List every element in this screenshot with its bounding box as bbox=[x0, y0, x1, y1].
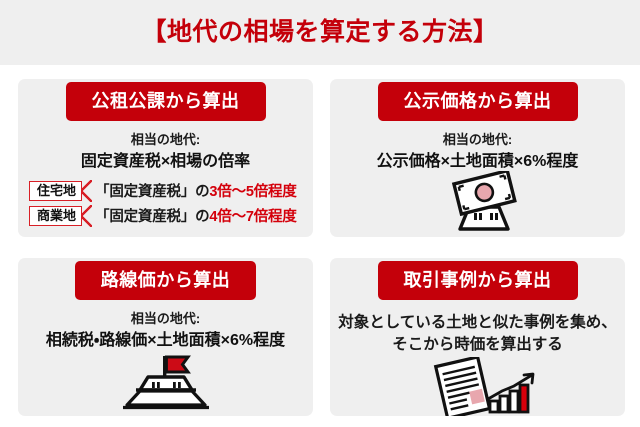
document-bar-chart-icon bbox=[419, 357, 537, 416]
card-body: 相当の地代: 固定資産税×相場の倍率 住宅地 「固定資産税」の3倍～5倍程度 商… bbox=[18, 121, 313, 226]
banknote-on-stand-icon bbox=[430, 171, 526, 233]
tag-row-prefix: 「固定資産税」の bbox=[95, 184, 209, 200]
tag-row-highlight: 4倍～7倍程度 bbox=[209, 209, 296, 225]
card-description-line1: 対象としている土地と似た事例を集め、 bbox=[338, 312, 617, 334]
card-lead: 相当の地代: bbox=[131, 311, 200, 327]
method-card-rosenka: 路線価から算出 相当の地代: 相続税・路線価×土地面積×6%程度 bbox=[18, 258, 313, 416]
card-heading: 路線価から算出 bbox=[75, 261, 257, 300]
card-lead: 相当の地代: bbox=[443, 132, 512, 148]
card-icon-slot bbox=[330, 171, 625, 233]
tag-row-text: 「固定資産税」の3倍～5倍程度 bbox=[95, 180, 297, 201]
card-formula: 公示価格×土地面積×6%程度 bbox=[377, 152, 579, 171]
method-card-grid: 公租公課から算出 相当の地代: 固定資産税×相場の倍率 住宅地 「固定資産税」の… bbox=[18, 79, 625, 416]
card-formula: 相続税・路線価×土地面積×6%程度 bbox=[46, 331, 285, 350]
card-heading: 公示価格から算出 bbox=[378, 82, 578, 121]
tag-row-highlight: 3倍～5倍程度 bbox=[209, 184, 296, 200]
card-heading: 公租公課から算出 bbox=[66, 82, 266, 121]
card-body: 対象としている土地と似た事例を集め、 そこから時価を算出する bbox=[330, 300, 625, 357]
card-lead: 相当の地代: bbox=[131, 132, 200, 148]
page-title: 【地代の相場を算定する方法】 bbox=[141, 20, 498, 45]
tag-row: 住宅地 「固定資産税」の3倍～5倍程度 bbox=[29, 180, 313, 201]
land-plot-flag-icon bbox=[114, 350, 218, 412]
tag-row-prefix: 「固定資産税」の bbox=[95, 209, 209, 225]
tag-row-list: 住宅地 「固定資産税」の3倍～5倍程度 商業地 「固定資産税」の4倍～7倍程度 bbox=[18, 180, 313, 226]
card-heading: 取引事例から算出 bbox=[378, 261, 578, 300]
header-band: 【地代の相場を算定する方法】 bbox=[0, 0, 640, 65]
method-card-kosokouka: 公租公課から算出 相当の地代: 固定資産税×相場の倍率 住宅地 「固定資産税」の… bbox=[18, 79, 313, 237]
tag-row-text: 「固定資産税」の4倍～7倍程度 bbox=[95, 205, 297, 226]
card-body: 相当の地代: 公示価格×土地面積×6%程度 bbox=[330, 121, 625, 171]
card-body: 相当の地代: 相続税・路線価×土地面積×6%程度 bbox=[18, 300, 313, 350]
card-description: 対象としている土地と似た事例を集め、 そこから時価を算出する bbox=[338, 312, 617, 357]
card-description-line2: そこから時価を算出する bbox=[338, 334, 617, 356]
tag-badge-residential: 住宅地 bbox=[29, 181, 82, 201]
card-icon-slot bbox=[18, 350, 313, 412]
method-card-koujikakaku: 公示価格から算出 相当の地代: 公示価格×土地面積×6%程度 bbox=[330, 79, 625, 237]
method-card-torihikijirei: 取引事例から算出 対象としている土地と似た事例を集め、 そこから時価を算出する bbox=[330, 258, 625, 416]
card-formula: 固定資産税×相場の倍率 bbox=[81, 152, 250, 171]
tag-badge-commercial: 商業地 bbox=[29, 206, 82, 226]
tag-row: 商業地 「固定資産税」の4倍～7倍程度 bbox=[29, 205, 313, 226]
card-icon-slot bbox=[330, 357, 625, 416]
